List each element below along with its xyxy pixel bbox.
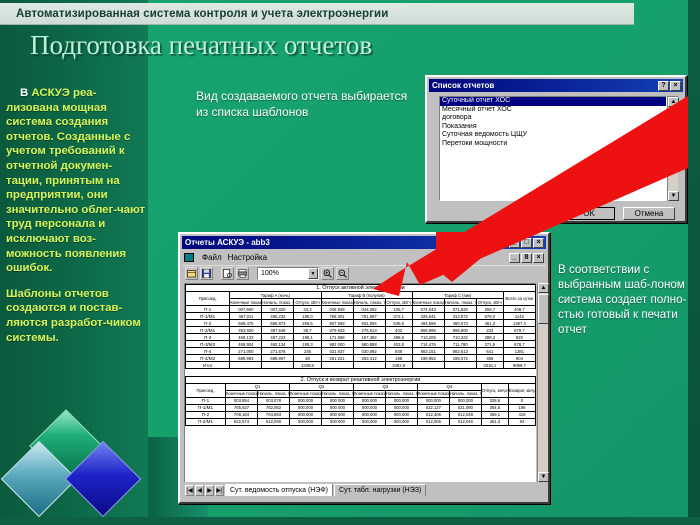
reports-listbox[interactable]: Суточный отчет ХОС Месячный отчет ХОС до…: [439, 96, 667, 201]
document-icon: [184, 253, 194, 262]
zoom-out-icon[interactable]: [336, 267, 349, 280]
cell: 364,6: [481, 404, 508, 411]
cell: 031 837: [321, 348, 353, 355]
cell: 710,322: [444, 334, 476, 341]
cell: 369,1: [481, 411, 508, 418]
cell: 709,164: [226, 411, 258, 418]
table-row[interactable]: П-3469,133467,223195,1171 668167,482488,…: [186, 334, 536, 341]
cell: 367,548: [262, 327, 294, 334]
cell: 198: [385, 355, 412, 362]
left-paragraph-1-body: АСКУЭ реа-лизована мощная система создан…: [6, 87, 145, 274]
cell: 000,000: [353, 397, 385, 404]
cell: 279 633: [321, 327, 353, 334]
tab-sut-vedomost-otpuska[interactable]: Сут. ведомость отпуска (НЭФ): [225, 484, 333, 496]
cell: 863,151: [412, 348, 444, 355]
table-row[interactable]: П-2669,476665,873266,5607 668601,094648,…: [186, 320, 536, 327]
cell: 199,372: [444, 355, 476, 362]
cell: 000,000: [289, 404, 321, 411]
column-header-vozvrat: Возврат, квАрч: [508, 383, 535, 397]
table-row[interactable]: П-2/М1353,920367,54836,7279 633276,61340…: [186, 327, 536, 334]
subheader-c-end: Конечные показ. т: [412, 299, 444, 306]
subheader-q4-start: Началь. показ. т: [449, 390, 481, 397]
zoom-level-value: 100%: [261, 270, 279, 277]
cell: 461,3: [476, 320, 503, 327]
table-row[interactable]: П-1007,600007,32034,3046 939044,282105,7…: [186, 306, 536, 313]
cell: 403,8: [385, 341, 412, 348]
close-icon[interactable]: ×: [670, 81, 681, 91]
cell: 678,7: [503, 341, 535, 348]
nav-first-sheet-button[interactable]: |◀: [185, 485, 194, 496]
row-label: П-2: [186, 411, 226, 418]
cell: 288,3: [476, 334, 503, 341]
cell: 460,134: [262, 341, 294, 348]
cell: 021,080: [449, 404, 481, 411]
background-bottom-edge: [0, 517, 700, 525]
report-menubar: Файл Настройка _ 8 ×: [182, 251, 546, 264]
cell: 012,406: [417, 411, 449, 418]
middle-callout-paragraph: Вид создаваемого отчета выбирается из сп…: [196, 88, 411, 120]
cell: 419: [508, 411, 535, 418]
cell: 022,137: [417, 404, 449, 411]
cell: [321, 362, 353, 369]
column-header-otpusk: Отпуск, квАрч: [481, 383, 508, 397]
table-row[interactable]: П-2709,164704,693000,000000 000000,00000…: [186, 411, 536, 418]
reports-dialog-titlebar[interactable]: Список отчетов ? ×: [429, 79, 683, 92]
cell: 486: [476, 355, 503, 362]
scroll-down-icon[interactable]: ▼: [668, 191, 679, 201]
cell: 271,676: [262, 348, 294, 355]
column-group-tariff-a: Тариф A (ночь): [230, 292, 321, 299]
cell: 171 668: [321, 334, 353, 341]
subheader-c-out: Отпуск, кВтч: [476, 299, 503, 306]
cell: 1381: [503, 348, 535, 355]
cell: 467,223: [262, 334, 294, 341]
cell: 000,000: [417, 397, 449, 404]
zoom-level-combo[interactable]: 100% ▼: [257, 267, 319, 280]
cell: 980,888: [353, 341, 385, 348]
table-row[interactable]: П-4271,000271,676246031 837030,092848863…: [186, 348, 536, 355]
table-row[interactable]: П-2/М1622,574612,090000,000000 000000,00…: [186, 418, 536, 425]
cell: 007,320: [262, 306, 294, 313]
cell: 180,0: [294, 313, 321, 320]
cell: [262, 362, 294, 369]
cell: 003,854: [226, 397, 258, 404]
page-title: Подготовка печатных отчетов: [30, 30, 590, 64]
tab-sut-tabl-nagruzki[interactable]: Сут. табл. нагрузки (НЭЗ): [334, 484, 426, 496]
cell: 000,000: [289, 397, 321, 404]
scroll-up-icon[interactable]: ▲: [668, 97, 679, 107]
minimize-icon[interactable]: _: [509, 238, 520, 248]
nav-prev-sheet-button[interactable]: ◀: [195, 485, 204, 496]
chevron-down-icon[interactable]: ▼: [308, 268, 318, 279]
cell: 665,873: [262, 320, 294, 327]
row-label: П-3: [186, 334, 230, 341]
cell: 761,687: [353, 313, 385, 320]
cell: 271,000: [230, 348, 262, 355]
cancel-button[interactable]: Отмена: [623, 207, 675, 220]
table-row[interactable]: П-1003,854003,078000,000000 000000,00000…: [186, 397, 536, 404]
subheader-c-start: Началь. показ. т: [444, 299, 476, 306]
cell: 030,092: [353, 348, 385, 355]
cell: 195,1: [294, 334, 321, 341]
report-sheet-area[interactable]: 1. Отпуск активной электроэнергии Присое…: [184, 283, 536, 482]
cell: 199,952: [412, 355, 444, 362]
cell: 607 668: [321, 320, 353, 327]
cell: 704,693: [257, 411, 289, 418]
close-icon[interactable]: ×: [533, 238, 544, 248]
subheader-q1-start: Началь. показ. т: [257, 390, 289, 397]
cell: 012,005: [417, 418, 449, 425]
table-row-title: 1. Отпуск активной электроэнергии: [186, 285, 536, 292]
cell: 263,412: [353, 355, 385, 362]
row-label: П-1: [186, 306, 230, 313]
cell: [353, 362, 385, 369]
column-group-q4: Q4: [417, 383, 481, 390]
right-callout-paragraph: В соответствии с выбранным шаб-лоном сис…: [558, 262, 698, 337]
subheader-a-start: Началь. показ. т: [262, 299, 294, 306]
column-group-q1: Q1: [226, 383, 290, 390]
cell: 678,0: [476, 313, 503, 320]
cell: 689,997: [262, 355, 294, 362]
row-label: П-1/М1: [186, 404, 226, 411]
cell: 198: [508, 404, 535, 411]
row-label: П-3/М3: [186, 341, 230, 348]
cell: 467,011: [230, 313, 262, 320]
cell: 622,574: [226, 418, 258, 425]
cell: 488,6: [385, 334, 412, 341]
cell: 167,482: [353, 334, 385, 341]
cell: 1142: [503, 313, 535, 320]
cell: 361,3: [481, 418, 508, 425]
cell: 261 221: [321, 355, 353, 362]
left-paragraph-1-lead: В: [20, 87, 28, 99]
cell: [412, 362, 444, 369]
reports-dialog-title: Список отчетов: [432, 81, 658, 90]
mdi-restore-icon[interactable]: 8: [521, 253, 532, 263]
header-banner: Автоматизированная система контроля и уч…: [0, 3, 634, 25]
total-tariff-b: 3402,8: [385, 362, 412, 369]
left-paragraph-1: В АСКУЭ реа-лизована мощная система созд…: [6, 86, 146, 276]
middle-callout-text: Вид создаваемого отчета выбирается из сп…: [196, 88, 411, 120]
subheader-q1-end: Конечные показ. т: [226, 390, 258, 397]
subheader-a-end: Конечные показ. т: [230, 299, 262, 306]
reactive-table-title: 2. Отпуск и возврат реактивной электроэн…: [186, 376, 536, 383]
table-row-total: Итог 1339,8 3402,8 3316,1 9058,7: [186, 362, 536, 369]
row-label: П-1/М1: [186, 313, 230, 320]
cell: 862,613: [444, 348, 476, 355]
cell: 233: [476, 327, 503, 334]
mdi-close-icon[interactable]: ×: [533, 253, 544, 263]
cell: 402: [385, 327, 412, 334]
reports-list-dialog: Список отчетов ? × Суточный отчет ХОС Ме…: [425, 75, 687, 223]
cell: 328,6: [481, 397, 508, 404]
left-body-text: В АСКУЭ реа-лизована мощная система созд…: [6, 86, 146, 356]
cell: 000,000: [353, 411, 385, 418]
cell: 000,000: [385, 411, 417, 418]
cell: 325,641: [412, 313, 444, 320]
cell: 469,904: [230, 341, 262, 348]
cell: 190,3: [294, 341, 321, 348]
row-label: П-2: [186, 320, 230, 327]
cell: 904: [503, 355, 535, 362]
column-header-presoed: Присоед.: [186, 292, 230, 306]
cell: 866,800: [444, 327, 476, 334]
cell: 071,820: [444, 306, 476, 313]
cell: 469,133: [230, 334, 262, 341]
column-group-total: Всего за сутки: [503, 292, 535, 306]
cell: 012,048: [449, 411, 481, 418]
sheet-tab-bar: |◀ ◀ ▶ ▶| Сут. ведомость отпуска (НЭФ) С…: [184, 483, 548, 497]
subheader-q4-end: Конечные показ. т: [417, 390, 449, 397]
report-window: Отчеты АСКУЭ - abb3 _ □ × Файл Настройка…: [178, 232, 550, 504]
subheader-q2-end: Конечные показ. т: [289, 390, 321, 397]
right-callout-text: В соответствии с выбранным шаб-лоном сис…: [558, 262, 698, 337]
reports-dialog-title-buttons: ? ×: [658, 81, 681, 91]
column-group-tariff-c: Тариф C (пик): [412, 292, 503, 299]
table-row-title: 2. Отпуск и возврат реактивной электроэн…: [186, 376, 536, 383]
cell: 64: [508, 418, 535, 425]
header-banner-text: Автоматизированная система контроля и уч…: [16, 8, 388, 20]
cell: 007,600: [230, 306, 262, 313]
cell: 34,3: [294, 306, 321, 313]
table-row-group-header: Присоед. Тариф A (ночь) Тариф B (полупик…: [186, 292, 536, 299]
cell: 714,476: [412, 341, 444, 348]
help-button[interactable]: ?: [658, 81, 669, 91]
row-label: П-4: [186, 348, 230, 355]
report-window-title: Отчеты АСКУЭ - abb3: [185, 238, 509, 247]
report-toolbar: 100% ▼: [182, 265, 546, 281]
cell: 766 301: [321, 313, 353, 320]
total-tariff-a: 1339,8: [294, 362, 321, 369]
cell: 044,282: [353, 306, 385, 313]
cell: 641: [476, 348, 503, 355]
report-window-title-buttons: _ □ ×: [509, 238, 544, 248]
cell: 711,780: [444, 341, 476, 348]
report-window-titlebar[interactable]: Отчеты АСКУЭ - abb3 _ □ ×: [182, 236, 546, 249]
scrollbar-thumb[interactable]: [538, 294, 549, 324]
table-row[interactable]: П-1/М1765,637762,082000,000000 000000,00…: [186, 404, 536, 411]
cell: 982 000: [321, 341, 353, 348]
scroll-down-icon[interactable]: ▼: [538, 472, 549, 482]
total-label: Итог: [186, 362, 230, 369]
cell: 38: [294, 355, 321, 362]
cell: 003,078: [257, 397, 289, 404]
cell: 105,7: [385, 306, 412, 313]
cell: 000,000: [289, 418, 321, 425]
row-label: П-2/М1: [186, 327, 230, 334]
nav-last-sheet-button[interactable]: ▶|: [215, 485, 224, 496]
subheader-b-end: Конечные показ. т: [321, 299, 353, 306]
cell: 266,5: [294, 320, 321, 327]
cell: 000,000: [449, 397, 481, 404]
cell: 648,6: [385, 320, 412, 327]
menu-item-settings[interactable]: Настройка: [228, 253, 267, 262]
cell: 000,000: [385, 397, 417, 404]
subheader-a-out: Отпуск, кВтч: [294, 299, 321, 306]
list-item[interactable]: Суточный отчет ХОС: [440, 97, 666, 106]
cell: 480,073: [444, 320, 476, 327]
list-item[interactable]: Показания: [440, 123, 666, 132]
cell: 36,7: [294, 327, 321, 334]
scroll-up-icon[interactable]: ▲: [538, 283, 549, 293]
cell: 000,000: [385, 404, 417, 411]
cell: 000 000: [321, 397, 353, 404]
total-tariff-c: 3316,1: [476, 362, 503, 369]
table-row-group-header: Присоед. Q1 Q2 Q3 Q4 Отпуск, квАрч Возвр…: [186, 383, 536, 390]
cell: 679,7: [503, 327, 535, 334]
spacer: [186, 369, 536, 376]
cell: 484,696: [412, 320, 444, 327]
list-item[interactable]: Перетоки мощности: [440, 140, 666, 149]
menu-item-file[interactable]: Файл: [202, 253, 222, 262]
cell: 000 000: [321, 404, 353, 411]
subheader-q2-start: Началь. показ. т: [321, 390, 353, 397]
sheet-vertical-scrollbar[interactable]: ▲ ▼: [537, 283, 548, 482]
cell: 000,000: [353, 418, 385, 425]
cell: 689,993: [230, 355, 262, 362]
cell: 765,637: [226, 404, 258, 411]
nav-next-sheet-button[interactable]: ▶: [205, 485, 214, 496]
column-group-q2: Q2: [289, 383, 353, 390]
active-table-title: 1. Отпуск активной электроэнергии: [186, 285, 536, 292]
column-group-q3: Q3: [353, 383, 417, 390]
cell: 000,000: [353, 404, 385, 411]
cell: 601,094: [353, 320, 385, 327]
open-icon[interactable]: [185, 267, 198, 280]
cell: [444, 362, 476, 369]
cell: 0: [508, 397, 535, 404]
column-group-tariff-b: Тариф B (полупик): [321, 292, 412, 299]
ok-button[interactable]: OK: [563, 207, 615, 220]
reactive-energy-table: 2. Отпуск и возврат реактивной электроэн…: [185, 376, 536, 426]
cell: 869,996: [412, 327, 444, 334]
cell: 046 939: [321, 306, 353, 313]
list-item[interactable]: договора: [440, 114, 666, 123]
cell: 313,872: [444, 313, 476, 320]
cell: 276,613: [353, 327, 385, 334]
cell: 246: [294, 348, 321, 355]
column-header-presoed-2: Присоед.: [186, 383, 226, 397]
maximize-icon[interactable]: □: [521, 238, 532, 248]
cell: 000,000: [289, 411, 321, 418]
cell: 848: [385, 348, 412, 355]
table-row[interactable]: П-4/М2689,993689,99738261 221263,4121981…: [186, 355, 536, 362]
table-row-subheader: Конечные показ. т Началь. показ. т Отпус…: [186, 299, 536, 306]
cell: 713,206: [412, 334, 444, 341]
subheader-b-out: Отпуск, кВтч: [385, 299, 412, 306]
subheader-q3-start: Началь. показ. т: [385, 390, 417, 397]
cell: 920: [503, 334, 535, 341]
save-icon[interactable]: [200, 267, 213, 280]
list-item[interactable]: Суточная ведомость ЦЩУ: [440, 131, 666, 140]
left-paragraph-2: Шаблоны отчетов создаются и постав-ляютс…: [6, 287, 146, 345]
row-label: П-2/М1: [186, 418, 226, 425]
total-all: 9058,7: [503, 362, 535, 369]
table-row[interactable]: П-3/М3469,904460,134190,3982 000980,8884…: [186, 341, 536, 348]
cell: 258,7: [476, 306, 503, 313]
cell: 669,476: [230, 320, 262, 327]
table-spacer-row: [186, 369, 536, 376]
row-label: П-4/М2: [186, 355, 230, 362]
cell: 1367,4: [503, 320, 535, 327]
cell: 271,9: [476, 341, 503, 348]
list-item[interactable]: Месячный отчет ХОС: [440, 106, 666, 115]
cell: 000,000: [385, 418, 417, 425]
cell: [230, 362, 262, 369]
cell: 000 000: [321, 411, 353, 418]
cell: 612,090: [257, 418, 289, 425]
cell: 074,043: [412, 306, 444, 313]
active-energy-table: 1. Отпуск активной электроэнергии Присое…: [185, 284, 536, 376]
zoom-in-icon[interactable]: [321, 267, 334, 280]
cell: 465,232: [262, 313, 294, 320]
subheader-b-start: Началь. показ. т: [353, 299, 385, 306]
print-preview-icon[interactable]: [221, 267, 234, 280]
table-row[interactable]: П-1/М1467,011465,232180,0766 301761,6873…: [186, 313, 536, 320]
mdi-minimize-icon[interactable]: _: [509, 253, 520, 263]
print-icon[interactable]: [236, 267, 249, 280]
cell: 012,046: [449, 418, 481, 425]
mdi-window-buttons: _ 8 ×: [509, 253, 546, 263]
cell: 372,1: [385, 313, 412, 320]
row-label: П-1: [186, 397, 226, 404]
subheader-q3-end: Конечные показ. т: [353, 390, 385, 397]
cell: 000 000: [321, 418, 353, 425]
cell: 408,7: [503, 306, 535, 313]
cell: 762,082: [257, 404, 289, 411]
reports-listbox-scrollbar[interactable]: ▲ ▼: [667, 96, 678, 201]
cell: 353,920: [230, 327, 262, 334]
